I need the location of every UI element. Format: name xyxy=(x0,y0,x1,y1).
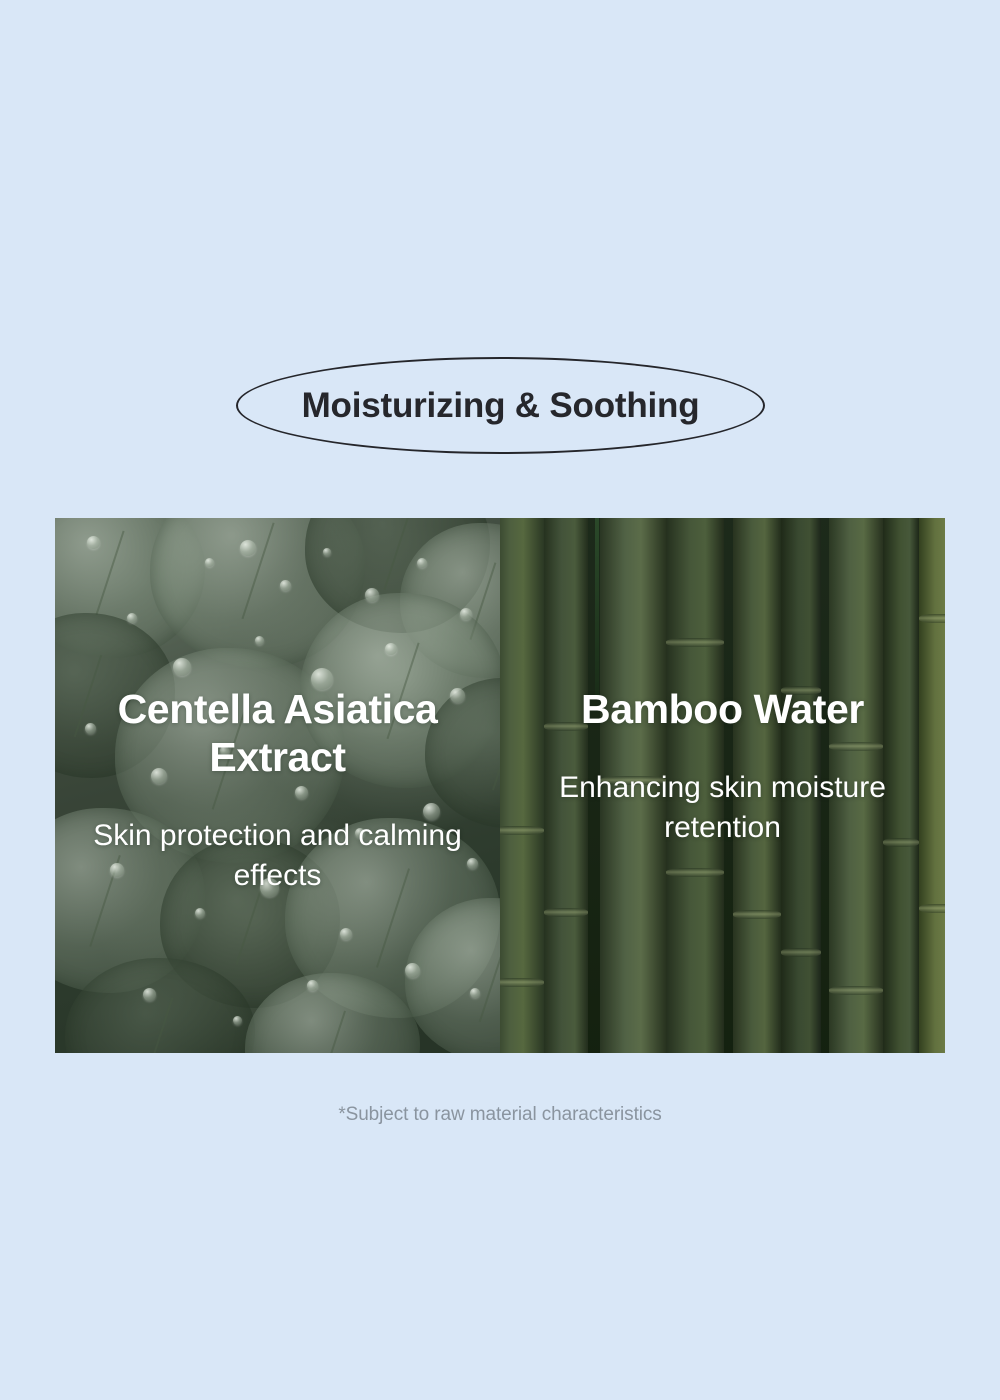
ingredient-highlight-page: Moisturizing & Soothing xyxy=(0,0,1000,1400)
centella-text-overlay: Centella Asiatica Extract Skin protectio… xyxy=(55,518,500,1053)
ingredient-title-centella: Centella Asiatica Extract xyxy=(78,686,478,782)
ingredient-title-bamboo: Bamboo Water xyxy=(581,686,864,734)
ingredient-panel-centella: Centella Asiatica Extract Skin protectio… xyxy=(55,518,500,1053)
ingredient-panels: Centella Asiatica Extract Skin protectio… xyxy=(55,518,945,1053)
bamboo-text-overlay: Bamboo Water Enhancing skin moisture ret… xyxy=(500,518,945,1053)
ingredient-caption-bamboo: Enhancing skin moisture retention xyxy=(538,768,908,847)
section-title-badge: Moisturizing & Soothing xyxy=(236,357,765,454)
section-title: Moisturizing & Soothing xyxy=(236,357,765,454)
ingredient-caption-centella: Skin protection and calming effects xyxy=(93,816,463,895)
ingredient-panel-bamboo: Bamboo Water Enhancing skin moisture ret… xyxy=(500,518,945,1053)
footnote-disclaimer: *Subject to raw material characteristics xyxy=(0,1104,1000,1126)
